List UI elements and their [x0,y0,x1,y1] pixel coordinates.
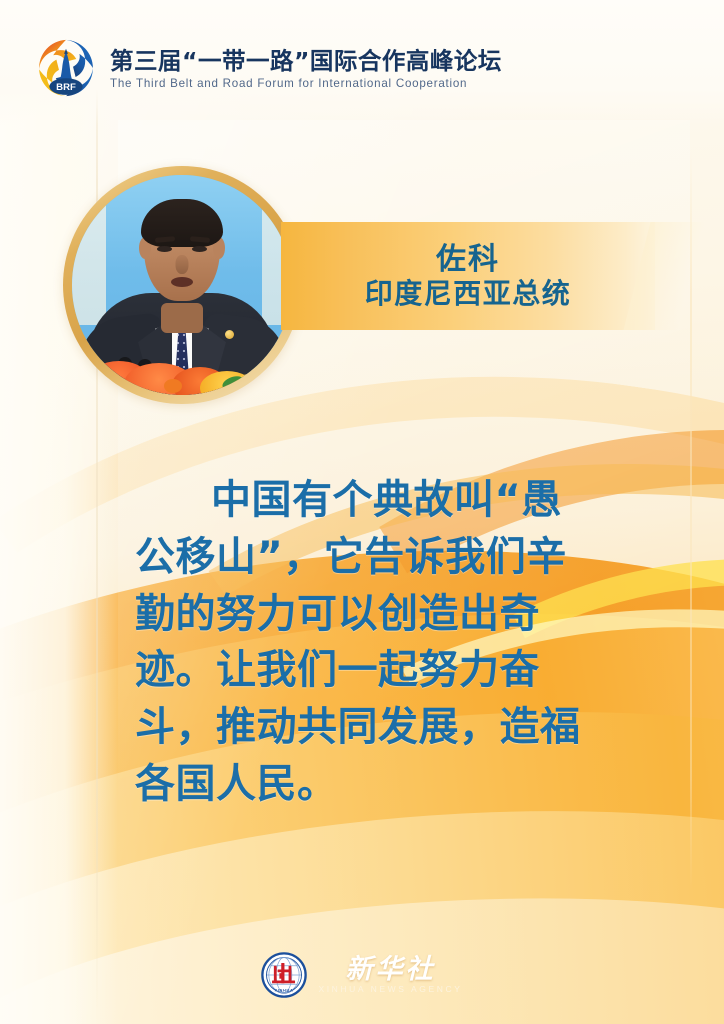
left-white-panel [0,0,118,1024]
xinhua-footer: XINHUA 新华社 XINHUA NEWS AGENCY [0,942,724,1008]
quote-text: 中国有个典故叫“愚公移山”，它告诉我们辛勤的努力可以创造出奇迹。让我们一起努力奋… [135,472,601,813]
portrait-flowers [72,349,292,395]
poster-canvas: BRF 第三届“一带一路”国际合作高峰论坛 The Third Belt and… [0,0,724,1024]
portrait-photo [72,175,292,395]
brf-emblem-icon: BRF [34,36,98,100]
portrait-lapel-pin [225,330,234,339]
portrait-mouth [171,277,193,287]
portrait-eye-left [157,246,172,252]
portrait-eye-right [192,246,207,252]
portrait-wall-left [72,175,106,325]
svg-text:XINHUA: XINHUA [275,988,294,993]
forum-title-cn: 第三届“一带一路”国际合作高峰论坛 [110,48,502,74]
forum-header: BRF 第三届“一带一路”国际合作高峰论坛 The Third Belt and… [34,36,502,100]
xinhua-wordmark: 新华社 XINHUA NEWS AGENCY [318,956,462,994]
xinhua-name-en: XINHUA NEWS AGENCY [318,984,462,994]
forum-title-en: The Third Belt and Road Forum for Intern… [110,77,502,90]
portrait-neck [161,303,203,333]
xinhua-emblem-icon: XINHUA [261,952,307,998]
left-panel-edge [96,0,98,1024]
speaker-name-banner: 佐科 印度尼西亚总统 [281,222,655,330]
speaker-title: 印度尼西亚总统 [365,279,572,308]
flower-orange-bud [164,379,182,393]
svg-text:BRF: BRF [56,82,76,93]
portrait-nose [176,255,189,274]
xinhua-name-cn: 新华社 [345,956,435,983]
forum-header-texts: 第三届“一带一路”国际合作高峰论坛 The Third Belt and Roa… [110,46,502,90]
speaker-portrait [63,166,301,404]
speaker-name: 佐科 [436,244,500,276]
